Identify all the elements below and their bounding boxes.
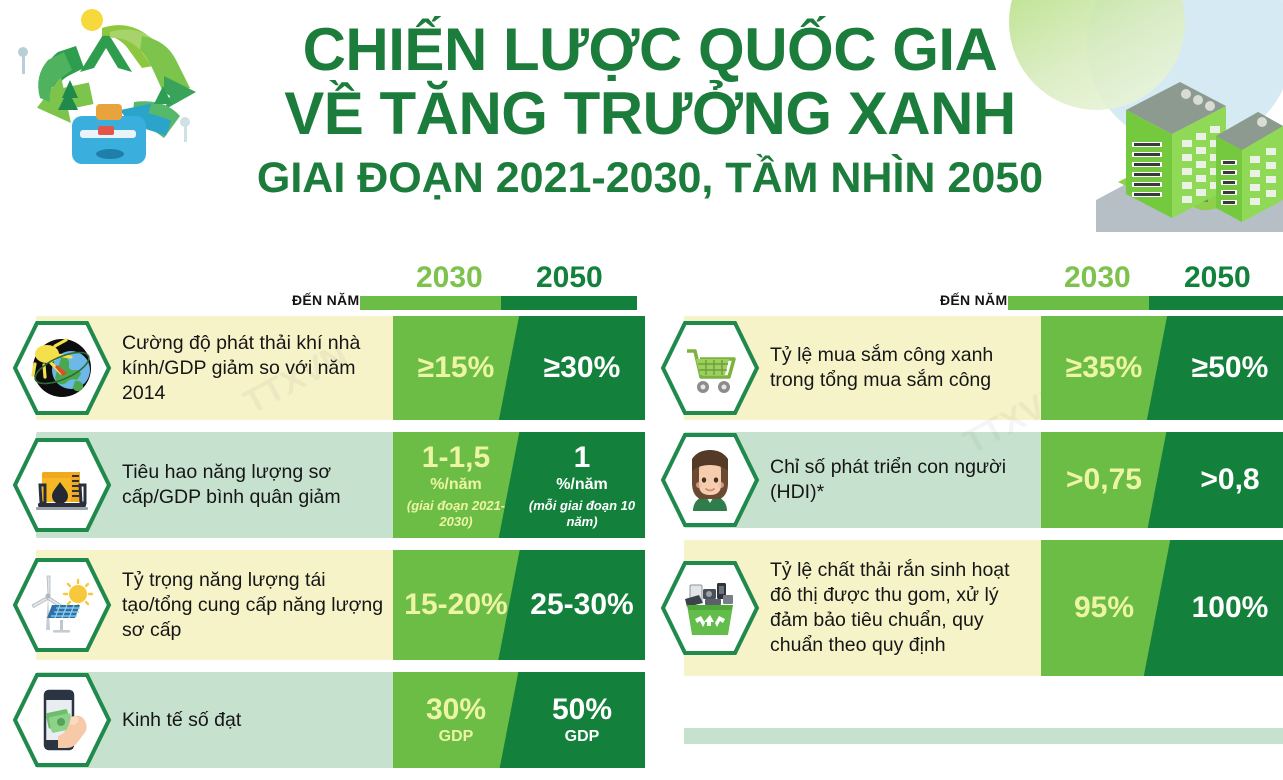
- row-label: Tỷ lệ chất thải rắn sinh hoạt đô thị đượ…: [764, 540, 1041, 676]
- value-2030-main: 30%: [426, 693, 486, 727]
- earth-sun-emissions-icon: [12, 320, 112, 416]
- row-icon-container: [8, 316, 116, 420]
- row-icon-container: [8, 432, 116, 538]
- den-nam-label: ĐẾN NĂM: [940, 292, 1007, 308]
- value-2030-main: ≥15%: [418, 351, 495, 385]
- value-cell-2050: >0,8: [1167, 432, 1283, 528]
- year-2050-label: 2050: [536, 262, 603, 294]
- value-2050-unit: %/năm: [556, 475, 608, 495]
- value-2050-main: 100%: [1192, 591, 1269, 625]
- value-2050-main: 25-30%: [530, 588, 633, 622]
- value-cell-2030: 30% GDP: [393, 672, 519, 768]
- wind-turbine-solar-panel-icon: [12, 557, 112, 653]
- shopping-cart-icon: [660, 320, 760, 416]
- table-row: Tỷ lệ chất thải rắn sinh hoạt đô thị đượ…: [656, 540, 1283, 676]
- left-column: ĐẾN NĂM 2030 2050: [8, 268, 645, 780]
- year-2050-label: 2050: [1184, 262, 1251, 294]
- year-2030-label: 2030: [1064, 262, 1131, 294]
- row-label: Tiêu hao năng lượng sơ cấp/GDP bình quân…: [116, 432, 393, 538]
- table-row: Tỷ lệ mua sắm công xanh trong tổng mua s…: [656, 316, 1283, 420]
- value-2030-unit: %/năm: [430, 475, 482, 495]
- oil-tank-icon: [12, 437, 112, 533]
- value-2050-main: >0,8: [1200, 463, 1259, 497]
- row-values: 95% 100%: [1041, 540, 1283, 676]
- value-cell-2050: 100%: [1167, 540, 1283, 676]
- value-2050-note: (mỗi giai đoạn 10 năm): [523, 498, 641, 530]
- value-cell-2030: 95%: [1041, 540, 1167, 676]
- value-cell-2030: 1-1,5 %/năm (giai đoạn 2021-2030): [393, 432, 519, 538]
- row-values: >0,75 >0,8: [1041, 432, 1283, 528]
- value-2030-main: 95%: [1074, 591, 1134, 625]
- row-values: ≥15% ≥30%: [393, 316, 645, 420]
- row-icon-container: [656, 432, 764, 528]
- title-line-1: CHIẾN LƯỢC QUỐC GIA: [215, 18, 1085, 82]
- title-line-2: VỀ TĂNG TRƯỞNG XANH: [215, 82, 1085, 146]
- row-icon-container: [8, 672, 116, 768]
- value-2030-note: (giai đoạn 2021-2030): [397, 498, 515, 530]
- year-header-left: ĐẾN NĂM 2030 2050: [8, 268, 645, 316]
- value-2030-unit: GDP: [439, 727, 474, 747]
- row-label: Chỉ số phát triển con người (HDI)*: [764, 432, 1041, 528]
- value-2030-main: 1-1,5: [422, 441, 490, 475]
- row-label: Tỷ lệ mua sắm công xanh trong tổng mua s…: [764, 316, 1041, 420]
- year-bar-2030: [1008, 296, 1149, 310]
- row-icon-container: [656, 316, 764, 420]
- year-divider-bar: [360, 296, 637, 310]
- year-bar-2050: [1149, 296, 1283, 310]
- value-cell-2030: >0,75: [1041, 432, 1167, 528]
- value-2050-unit: GDP: [565, 727, 600, 747]
- table-row: Cường độ phát thải khí nhà kính/GDP giảm…: [8, 316, 645, 420]
- next-row-partial: [684, 728, 1283, 744]
- value-2050-main: 1: [574, 441, 591, 475]
- value-cell-2030: ≥15%: [393, 316, 519, 420]
- row-icon-container: [656, 540, 764, 676]
- value-cell-2050: 1 %/năm (mỗi giai đoạn 10 năm): [519, 432, 645, 538]
- year-header-right: ĐẾN NĂM 2030 2050: [656, 268, 1283, 316]
- table-row: Tỷ trọng năng lượng tái tạo/tổng cung cấ…: [8, 550, 645, 660]
- value-2030-main: >0,75: [1066, 463, 1142, 497]
- value-2050-main: 50%: [552, 693, 612, 727]
- green-buildings-illustration: [1090, 50, 1283, 232]
- value-2030-main: 15-20%: [404, 588, 507, 622]
- row-icon-container: [8, 550, 116, 660]
- year-2030-label: 2030: [416, 262, 483, 294]
- year-bar-2030: [360, 296, 501, 310]
- table-row: Kinh tế số đạt 30% GDP 50% GDP: [8, 672, 645, 768]
- row-values: 15-20% 25-30%: [393, 550, 645, 660]
- right-column: ĐẾN NĂM 2030 2050: [656, 268, 1283, 688]
- row-label: Kinh tế số đạt: [116, 672, 393, 768]
- row-label: Cường độ phát thải khí nhà kính/GDP giảm…: [116, 316, 393, 420]
- den-nam-label: ĐẾN NĂM: [292, 292, 359, 308]
- row-label: Tỷ trọng năng lượng tái tạo/tổng cung cấ…: [116, 550, 393, 660]
- value-cell-2030: ≥35%: [1041, 316, 1167, 420]
- page-header: CHIẾN LƯỢC QUỐC GIA VỀ TĂNG TRƯỞNG XANH …: [0, 0, 1283, 250]
- recycling-bin-waste-icon: [660, 560, 760, 656]
- person-hdi-icon: [660, 432, 760, 528]
- row-values: 1-1,5 %/năm (giai đoạn 2021-2030) 1 %/nă…: [393, 432, 645, 538]
- page-title: CHIẾN LƯỢC QUỐC GIA VỀ TĂNG TRƯỞNG XANH …: [215, 18, 1085, 204]
- year-bar-2050: [501, 296, 637, 310]
- value-2050-main: ≥50%: [1192, 351, 1269, 385]
- table-row: Chỉ số phát triển con người (HDI)* >0,75…: [656, 432, 1283, 528]
- value-cell-2050: ≥30%: [519, 316, 645, 420]
- mobile-payment-icon: [12, 672, 112, 768]
- table-row: Tiêu hao năng lượng sơ cấp/GDP bình quân…: [8, 432, 645, 538]
- title-line-3: GIAI ĐOẠN 2021-2030, TẦM NHÌN 2050: [215, 152, 1085, 204]
- value-2050-main: ≥30%: [544, 351, 621, 385]
- value-cell-2050: 25-30%: [519, 550, 645, 660]
- value-cell-2030: 15-20%: [393, 550, 519, 660]
- row-values: 30% GDP 50% GDP: [393, 672, 645, 768]
- recycling-arrows-illustration: [14, 6, 210, 182]
- value-cell-2050: 50% GDP: [519, 672, 645, 768]
- row-values: ≥35% ≥50%: [1041, 316, 1283, 420]
- value-2030-main: ≥35%: [1066, 351, 1143, 385]
- year-divider-bar: [1008, 296, 1283, 310]
- value-cell-2050: ≥50%: [1167, 316, 1283, 420]
